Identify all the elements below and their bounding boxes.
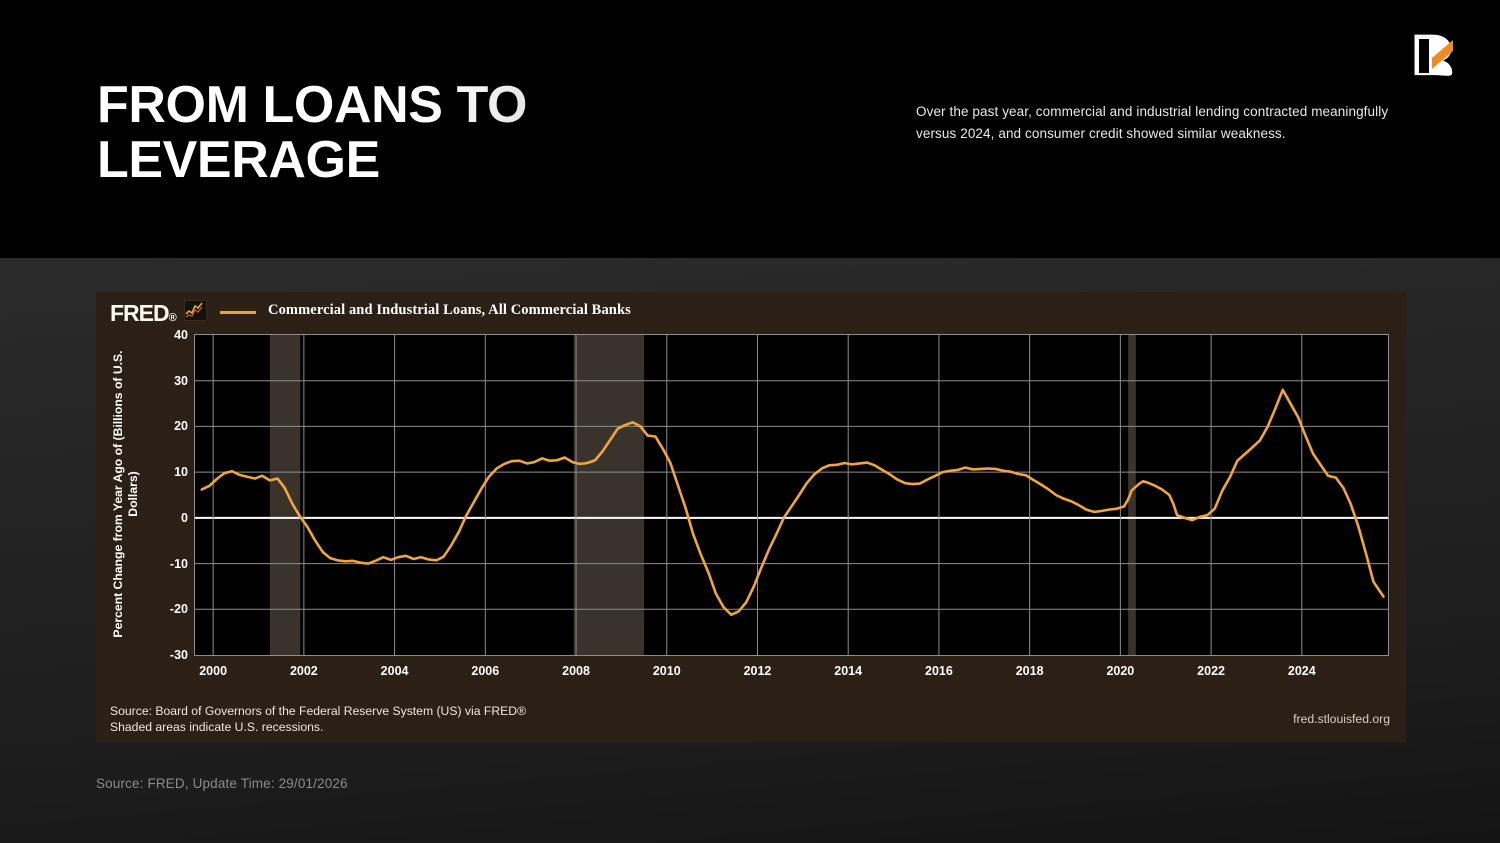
y-axis-tick-label: 0 — [181, 511, 188, 525]
page-title: From Loans to Leverage — [97, 78, 857, 188]
x-axis-tick-label: 2008 — [562, 664, 590, 678]
y-axis-tick-label: 40 — [174, 328, 188, 342]
fred-logo-mark: ® — [169, 312, 176, 324]
hero-subtitle: Over the past year, commercial and indus… — [916, 101, 1416, 145]
x-axis-tick-label: 2024 — [1288, 664, 1316, 678]
x-axis-tick-label: 2014 — [834, 664, 862, 678]
fred-chart-card: FRED® Commercial and Industrial Loans, A… — [96, 292, 1406, 742]
x-axis-tick-label: 2022 — [1197, 664, 1225, 678]
y-axis-tick-label: 20 — [174, 419, 188, 433]
y-axis-tick-label: -20 — [170, 602, 188, 616]
x-axis-tick-label: 2002 — [290, 664, 318, 678]
series-line — [202, 390, 1384, 615]
chart-canvas — [195, 335, 1388, 655]
x-axis-tick-label: 2016 — [925, 664, 953, 678]
y-axis-title: Percent Change from Year Ago of (Billion… — [111, 292, 145, 333]
chart-source-note: Source: Board of Governors of the Federa… — [110, 704, 526, 735]
y-axis-tick-label: 30 — [174, 374, 188, 388]
hero-band: From Loans to Leverage Over the past yea… — [0, 0, 1500, 258]
brand-logo-b — [1409, 31, 1455, 81]
sparkline-icon — [184, 300, 207, 321]
y-axis-tick-label: 10 — [174, 465, 188, 479]
chart-plot-area: Percent Change from Year Ago of (Billion… — [194, 334, 1389, 656]
x-axis-tick-label: 2004 — [381, 664, 409, 678]
x-axis-tick-label: 2010 — [653, 664, 681, 678]
legend-label: Commercial and Industrial Loans, All Com… — [268, 302, 631, 319]
fred-url: fred.stlouisfed.org — [1293, 712, 1390, 726]
recession-band — [270, 335, 300, 655]
x-axis-tick-label: 2006 — [471, 664, 499, 678]
slide-footer-source: Source: FRED, Update Time: 29/01/2026 — [96, 776, 348, 791]
x-axis-tick-label: 2012 — [744, 664, 772, 678]
x-axis-tick-label: 2018 — [1016, 664, 1044, 678]
sparkline-icon-svg — [185, 301, 204, 318]
x-axis-tick-label: 2000 — [199, 664, 227, 678]
y-axis-tick-label: -30 — [170, 648, 188, 662]
y-axis-title-text: Percent Change from Year Ago of (Billion… — [111, 333, 141, 655]
y-axis-tick-label: -10 — [170, 557, 188, 571]
x-axis-tick-label: 2020 — [1106, 664, 1134, 678]
recession-band — [574, 335, 644, 655]
fred-header: FRED® Commercial and Industrial Loans, A… — [96, 292, 1406, 332]
slide-root: From Loans to Leverage Over the past yea… — [0, 0, 1500, 843]
legend-color-swatch — [220, 311, 256, 314]
brand-logo-svg — [1409, 31, 1455, 81]
